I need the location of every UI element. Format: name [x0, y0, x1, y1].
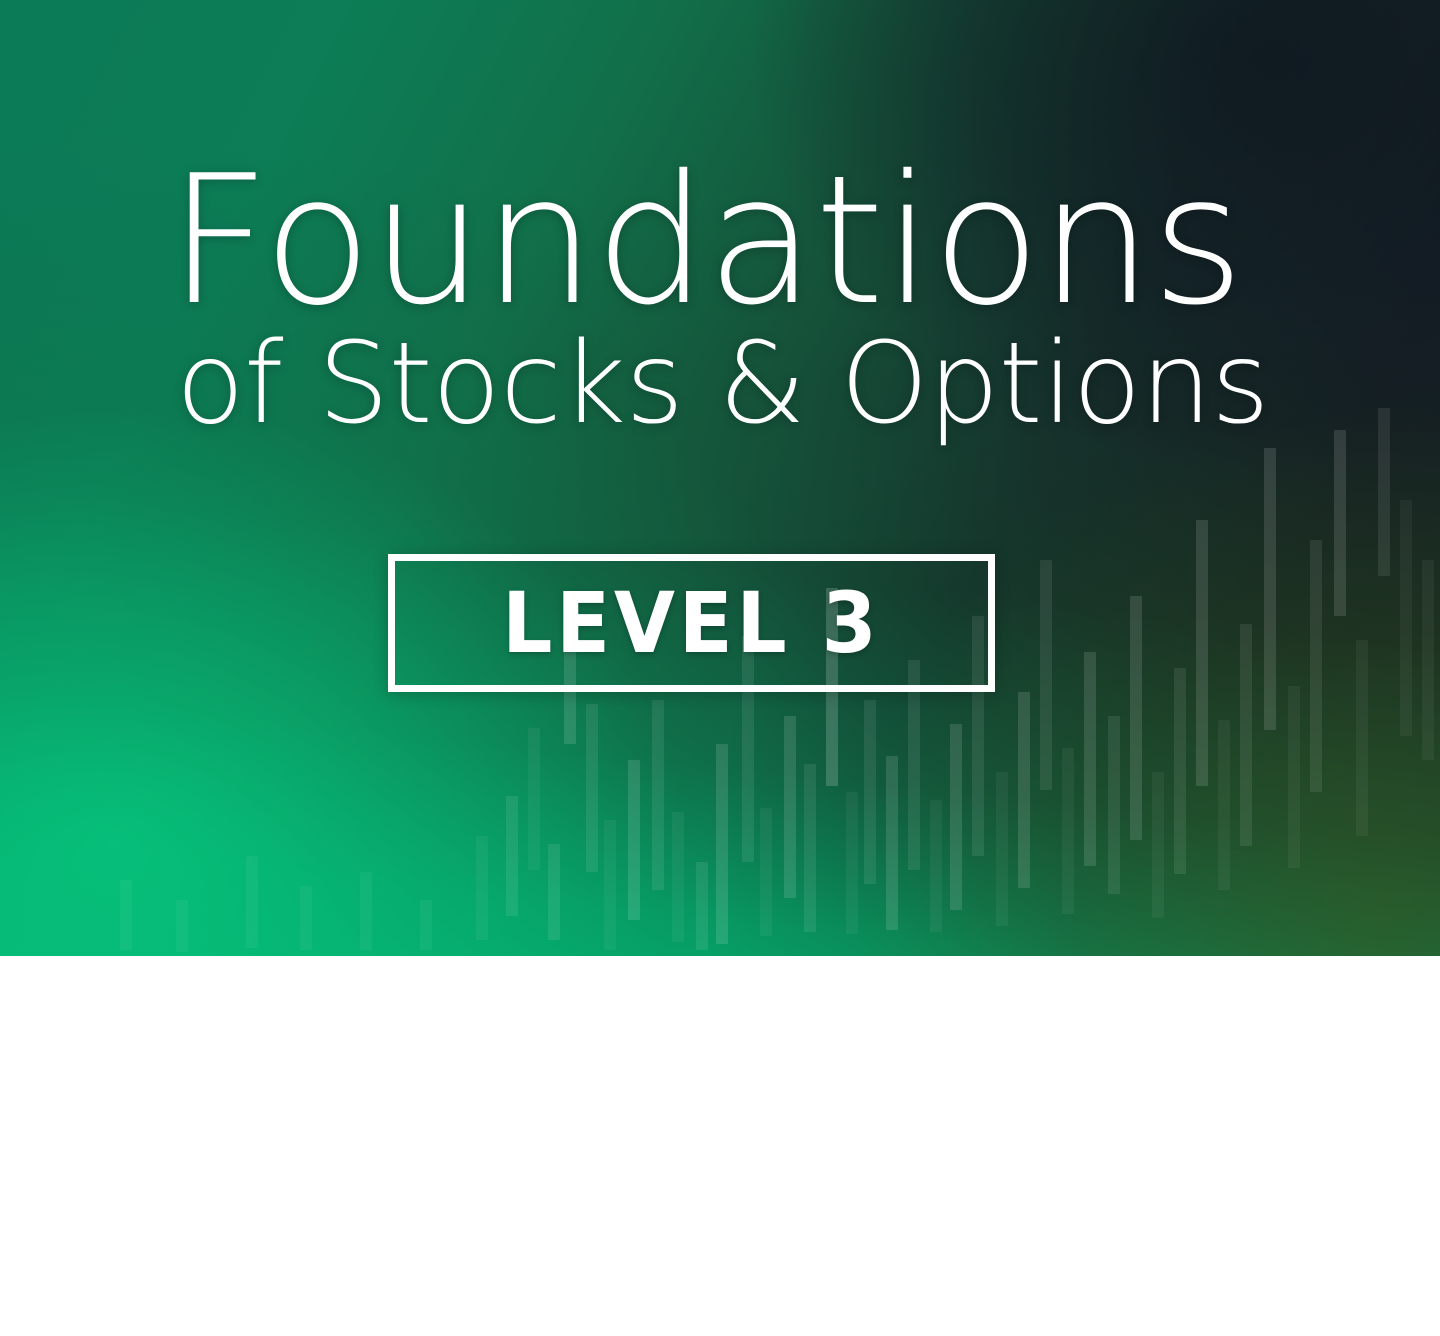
page-subtitle: of Stocks & Options [176, 328, 1269, 440]
course-cover-hero: Foundations of Stocks & Options LEVEL 3 [0, 0, 1440, 956]
watermark-band: DLSUB.COM ADMIN@DLSUB.COM [0, 956, 1440, 1336]
level-badge: LEVEL 3 [388, 554, 995, 692]
course-cover-page: Foundations of Stocks & Options LEVEL 3 … [0, 0, 1440, 1336]
level-badge-label: LEVEL 3 [502, 574, 880, 672]
page-title: Foundations [168, 152, 1243, 330]
